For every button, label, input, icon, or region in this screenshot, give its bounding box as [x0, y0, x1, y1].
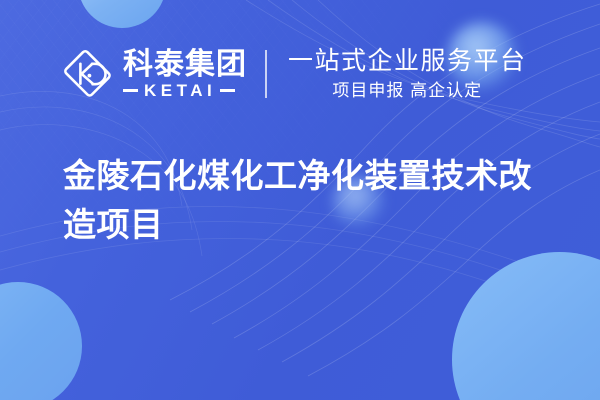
- tagline-block: 一站式企业服务平台 项目申报 高企认定: [288, 47, 527, 101]
- banner-title: 金陵石化煤化工净化装置技术改造项目: [63, 152, 555, 250]
- brand-dash-right: [220, 89, 235, 92]
- brand-text: 科泰集团 KETAI: [123, 49, 247, 100]
- banner-header: 科泰集团 KETAI 一站式企业服务平台 项目申报 高企认定: [0, 38, 600, 110]
- brand-name-cn: 科泰集团: [123, 49, 247, 81]
- brand-name-en-row: KETAI: [123, 82, 247, 99]
- brand-name-en: KETAI: [144, 82, 216, 99]
- ketai-logo-icon: [62, 49, 112, 99]
- tagline-sub: 项目申报 高企认定: [288, 81, 527, 101]
- tagline-main: 一站式企业服务平台: [288, 47, 527, 76]
- brand-lockup: 科泰集团 KETAI: [62, 49, 247, 100]
- header-divider: [265, 50, 267, 98]
- brand-dash-left: [123, 89, 138, 92]
- promo-banner: 科泰集团 KETAI 一站式企业服务平台 项目申报 高企认定 金陵石化煤化工净化…: [0, 0, 600, 400]
